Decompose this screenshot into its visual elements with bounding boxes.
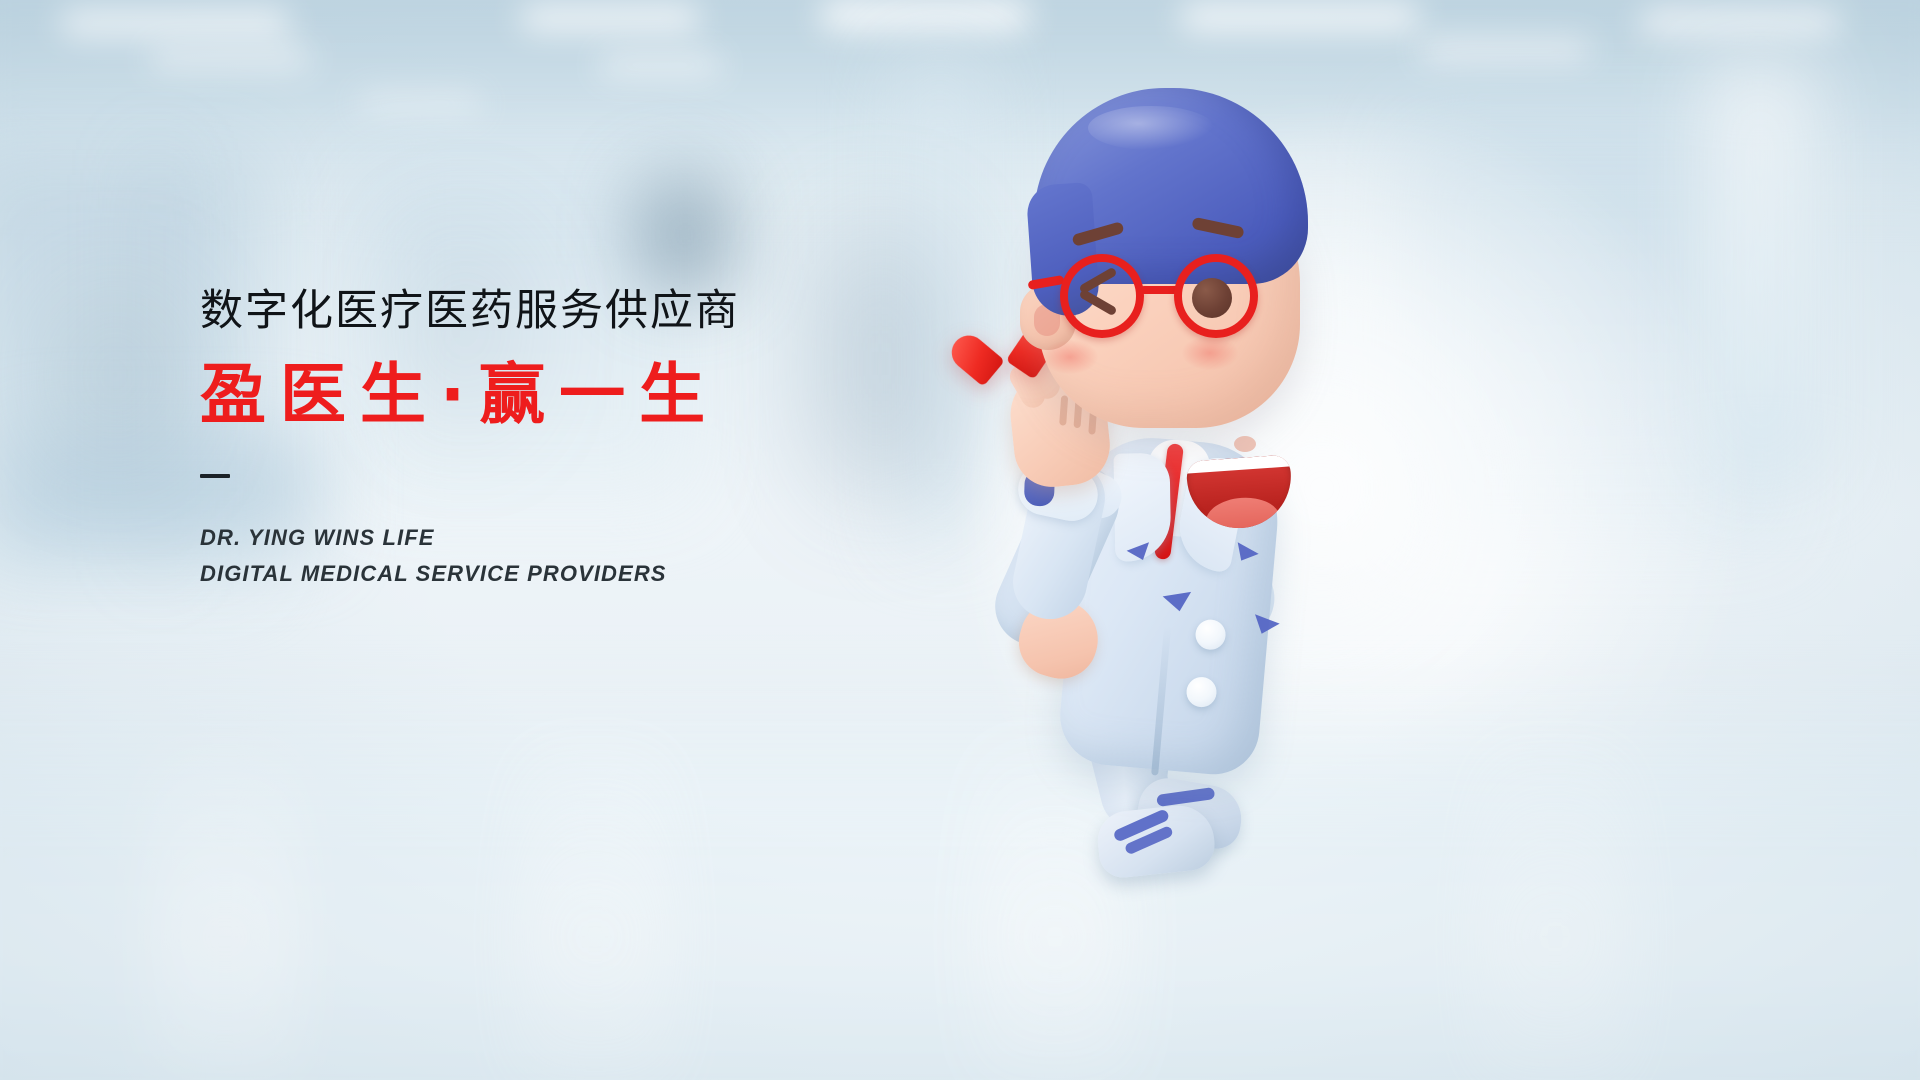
hero-subtitle-line-1: DR. YING WINS LIFE	[200, 520, 740, 556]
shoe-stripe-back	[1156, 787, 1215, 807]
shoe-front	[1095, 802, 1217, 880]
hero-subtitle-line-2: DIGITAL MEDICAL SERVICE PROVIDERS	[200, 556, 740, 592]
doctor-character	[960, 40, 1380, 860]
glasses-red-round	[1056, 254, 1296, 342]
coat-accent-triangle-2	[1249, 614, 1279, 638]
hero-divider	[200, 474, 230, 478]
blush-left	[1042, 340, 1098, 374]
coat-button-1	[1194, 618, 1227, 651]
hero-copy-block: 数字化医疗医药服务供应商 盈医生·赢一生 DR. YING WINS LIFE …	[200, 288, 740, 591]
hero-tagline: 盈医生·赢一生	[200, 359, 740, 432]
coat-button-2	[1185, 676, 1218, 709]
hero-subtitle: DR. YING WINS LIFE DIGITAL MEDICAL SERVI…	[200, 520, 740, 591]
hero-headline: 数字化医疗医药服务供应商	[200, 288, 740, 335]
hair-highlight	[1088, 106, 1214, 150]
hero-banner: 数字化医疗医药服务供应商 盈医生·赢一生 DR. YING WINS LIFE …	[0, 0, 1920, 1080]
nose	[1234, 436, 1256, 452]
coat-accent-triangle-1	[1163, 592, 1194, 614]
coat-accent-triangle-4	[1231, 542, 1259, 566]
coat-seam	[1151, 626, 1171, 776]
knuckle-1	[1059, 395, 1068, 425]
glasses-lens-left	[1060, 254, 1144, 338]
eye-pupil-open	[1192, 278, 1232, 318]
